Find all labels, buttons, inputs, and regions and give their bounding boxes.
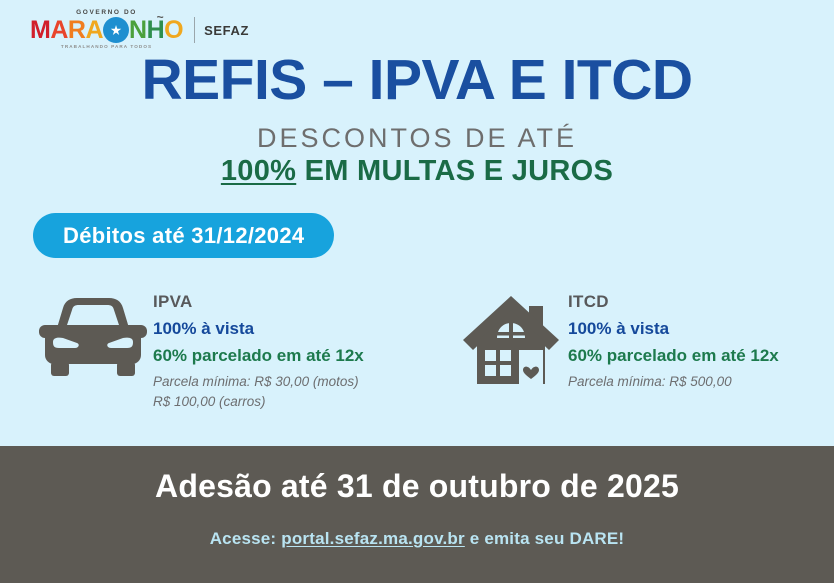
status-badge: Débitos até 31/12/2024	[33, 213, 334, 258]
footer-access-line: Acesse: portal.sefaz.ma.gov.br e emita s…	[0, 529, 834, 549]
subtitle-discount-value: 100% EM MULTAS E JUROS	[0, 155, 834, 188]
offer-title: IPVA	[153, 292, 364, 312]
logo-department-label: SEFAZ	[204, 23, 249, 38]
offer-card-itcd: ITCD 100% à vista 60% parcelado em até 1…	[453, 288, 779, 411]
discount-percent: 100%	[221, 155, 296, 187]
logo-tagline: TRABALHANDO PARA TODOS	[61, 45, 152, 50]
offer-note-line2: R$ 100,00 (carros)	[153, 392, 364, 412]
poster-canvas: GOVERNO DO MARANH~O TRABALHANDO PARA TOD…	[0, 0, 834, 583]
maranhao-logo: GOVERNO DO MARANH~O TRABALHANDO PARA TOD…	[30, 10, 183, 50]
brand-logo: GOVERNO DO MARANH~O TRABALHANDO PARA TOD…	[30, 10, 249, 50]
offer-note-line1: Parcela mínima: R$ 30,00 (motos)	[153, 372, 364, 392]
offer-note-line1: Parcela mínima: R$ 500,00	[568, 372, 779, 392]
offer-installment-line: 60% parcelado em até 12x	[568, 346, 779, 366]
portal-link[interactable]: portal.sefaz.ma.gov.br	[281, 529, 465, 548]
logo-divider	[194, 17, 195, 43]
offer-details-ipva: IPVA 100% à vista 60% parcelado em até 1…	[153, 288, 364, 411]
offers-section: IPVA 100% à vista 60% parcelado em até 1…	[0, 288, 834, 411]
star-icon	[103, 17, 129, 43]
offer-cash-line: 100% à vista	[568, 319, 779, 339]
subtitle-discount-label: DESCONTOS DE ATÉ	[0, 123, 834, 154]
logo-state-name: MARANH~O	[30, 17, 183, 43]
house-icon	[453, 288, 568, 386]
car-icon	[33, 288, 153, 378]
footer-access-suffix: e emita seu DARE!	[465, 529, 624, 548]
offer-card-ipva: IPVA 100% à vista 60% parcelado em até 1…	[33, 288, 433, 411]
offer-cash-line: 100% à vista	[153, 319, 364, 339]
footer-deadline: Adesão até 31 de outubro de 2025	[0, 468, 834, 505]
offer-details-itcd: ITCD 100% à vista 60% parcelado em até 1…	[568, 288, 779, 392]
offer-installment-line: 60% parcelado em até 12x	[153, 346, 364, 366]
footer-access-prefix: Acesse:	[210, 529, 282, 548]
badge-label: Débitos até 31/12/2024	[63, 223, 304, 249]
footer-band: Adesão até 31 de outubro de 2025 Acesse:…	[0, 446, 834, 583]
offer-title: ITCD	[568, 292, 779, 312]
tilde-accent: ~	[157, 12, 164, 23]
discount-scope: EM MULTAS E JUROS	[296, 155, 613, 187]
page-title: REFIS – IPVA E ITCD	[0, 52, 834, 109]
